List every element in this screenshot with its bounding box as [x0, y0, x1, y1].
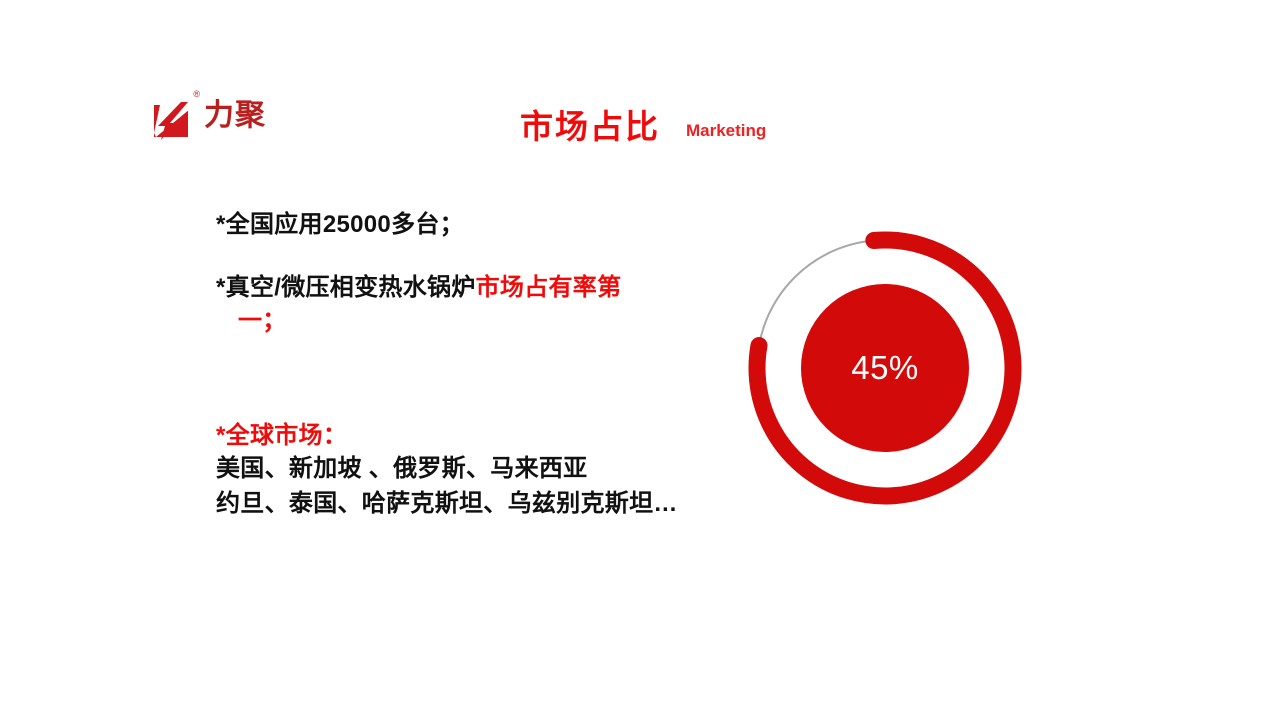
bullet-text-highlight: 市场占有率第: [476, 274, 622, 301]
bullet-text-wrap: 一；: [216, 304, 716, 337]
bullet-list: *全国应用25000多台； *真空/微压相变热水锅炉市场占有率第 一；: [216, 208, 716, 337]
slide-canvas: ® 力聚 市场占比 Marketing *全国应用25000多台； *真空/微压…: [0, 0, 1280, 720]
bullet-item-installations: *全国应用25000多台；: [216, 208, 716, 241]
registered-trademark-icon: ®: [193, 90, 200, 99]
brand-wordmark: 力聚: [204, 101, 266, 131]
slide-header: 市场占比 Marketing: [520, 108, 766, 146]
page-subtitle: Marketing: [686, 121, 766, 141]
brand-logo: ® 力聚: [148, 88, 278, 144]
market-share-donut-chart: 45%: [745, 228, 1025, 508]
global-market-heading: *全球市场：: [216, 420, 776, 452]
global-market-line-2: 约旦、泰国、哈萨克斯坦、乌兹别克斯坦…: [216, 487, 776, 522]
page-title: 市场占比: [520, 108, 660, 146]
global-market-line-1: 美国、新加坡 、俄罗斯、马来西亚: [216, 452, 776, 487]
donut-center-disc: [801, 284, 969, 452]
bullet-item-market-share: *真空/微压相变热水锅炉市场占有率第 一；: [216, 271, 716, 337]
bullet-text-plain: *真空/微压相变热水锅炉: [216, 274, 476, 301]
global-market-block: *全球市场： 美国、新加坡 、俄罗斯、马来西亚 约旦、泰国、哈萨克斯坦、乌兹别克…: [216, 420, 776, 522]
lightning-bolt-logo-icon: ®: [148, 93, 196, 140]
